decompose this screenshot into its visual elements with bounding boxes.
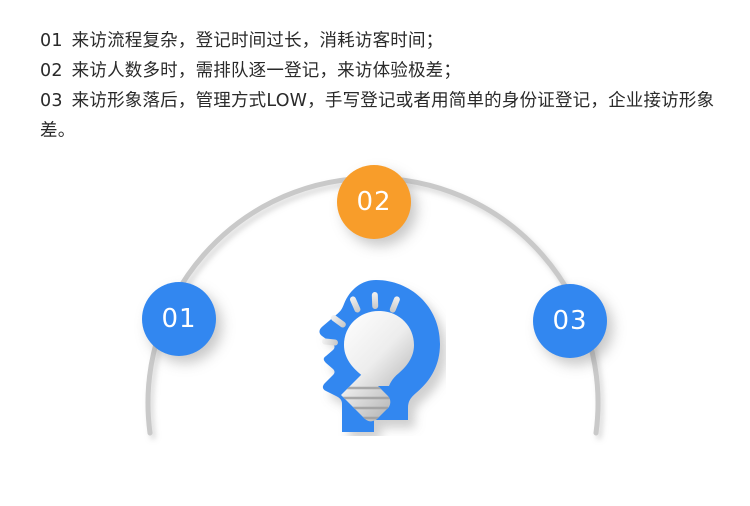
step-node-label: 03 <box>552 306 587 336</box>
step-node-01[interactable]: 01 <box>142 282 216 356</box>
issue-number: 01 <box>40 26 63 56</box>
step-node-label: 01 <box>161 304 196 334</box>
step-node-label: 02 <box>356 187 391 217</box>
infographic-page: 01来访流程复杂，登记时间过长，消耗访客时间； 02来访人数多时，需排队逐一登记… <box>0 0 750 506</box>
issue-number: 03 <box>40 86 63 116</box>
issue-number: 02 <box>40 56 63 86</box>
step-node-03[interactable]: 03 <box>533 284 607 358</box>
issue-item: 02来访人数多时，需排队逐一登记，来访体验极差； <box>40 56 740 86</box>
issue-text: 来访流程复杂，登记时间过长，消耗访客时间； <box>72 31 444 51</box>
issue-item: 03来访形象落后，管理方式LOW，手写登记或者用简单的身份证登记，企业接访形象差… <box>40 86 730 146</box>
issue-text: 来访人数多时，需排队逐一登记，来访体验极差； <box>72 61 461 81</box>
step-node-02[interactable]: 02 <box>337 165 411 239</box>
process-diagram: 01 02 03 <box>0 150 750 506</box>
issue-item: 01来访流程复杂，登记时间过长，消耗访客时间； <box>40 26 740 56</box>
issue-text: 来访形象落后，管理方式LOW，手写登记或者用简单的身份证登记，企业接访形象差。 <box>40 91 714 141</box>
issue-list: 01来访流程复杂，登记时间过长，消耗访客时间； 02来访人数多时，需排队逐一登记… <box>40 26 740 146</box>
head-lightbulb-icon <box>300 276 446 436</box>
